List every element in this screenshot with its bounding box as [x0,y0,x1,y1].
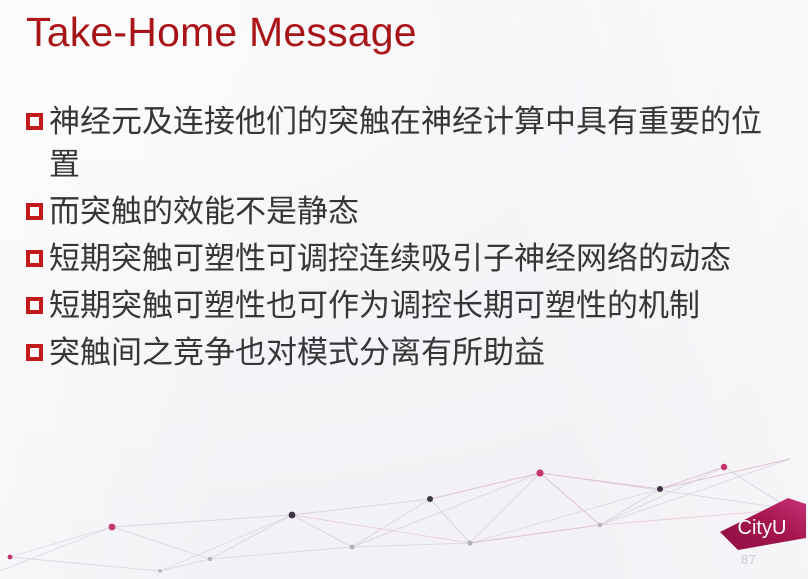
cityu-logo: CityU [718,498,806,550]
list-item: 而突触的效能不是静态 [26,190,778,233]
page-number: 87 [741,552,756,567]
square-bullet-icon [26,113,43,130]
list-item-label: 短期突触可塑性可调控连续吸引子神经网络的动态 [49,237,778,280]
network-decoration [0,439,808,579]
list-item-label: 短期突触可塑性也可作为调控长期可塑性的机制 [49,284,778,327]
square-bullet-icon [26,297,43,314]
list-item-label: 突触间之竞争也对模式分离有所助益 [49,331,778,374]
bullet-list: 神经元及连接他们的突触在神经计算中具有重要的位置 而突触的效能不是静态 短期突触… [26,100,778,378]
square-bullet-icon [26,250,43,267]
square-bullet-icon [26,344,43,361]
cityu-logo-text: CityU [738,517,787,539]
list-item: 短期突触可塑性可调控连续吸引子神经网络的动态 [26,237,778,280]
square-bullet-icon [26,203,43,220]
list-item: 短期突触可塑性也可作为调控长期可塑性的机制 [26,284,778,327]
page-title: Take-Home Message [26,6,417,58]
list-item-label: 而突触的效能不是静态 [49,190,778,233]
slide-canvas: Take-Home Message 神经元及连接他们的突触在神经计算中具有重要的… [0,0,808,579]
list-item-label: 神经元及连接他们的突触在神经计算中具有重要的位置 [49,100,778,186]
list-item: 突触间之竞争也对模式分离有所助益 [26,331,778,374]
list-item: 神经元及连接他们的突触在神经计算中具有重要的位置 [26,100,778,186]
